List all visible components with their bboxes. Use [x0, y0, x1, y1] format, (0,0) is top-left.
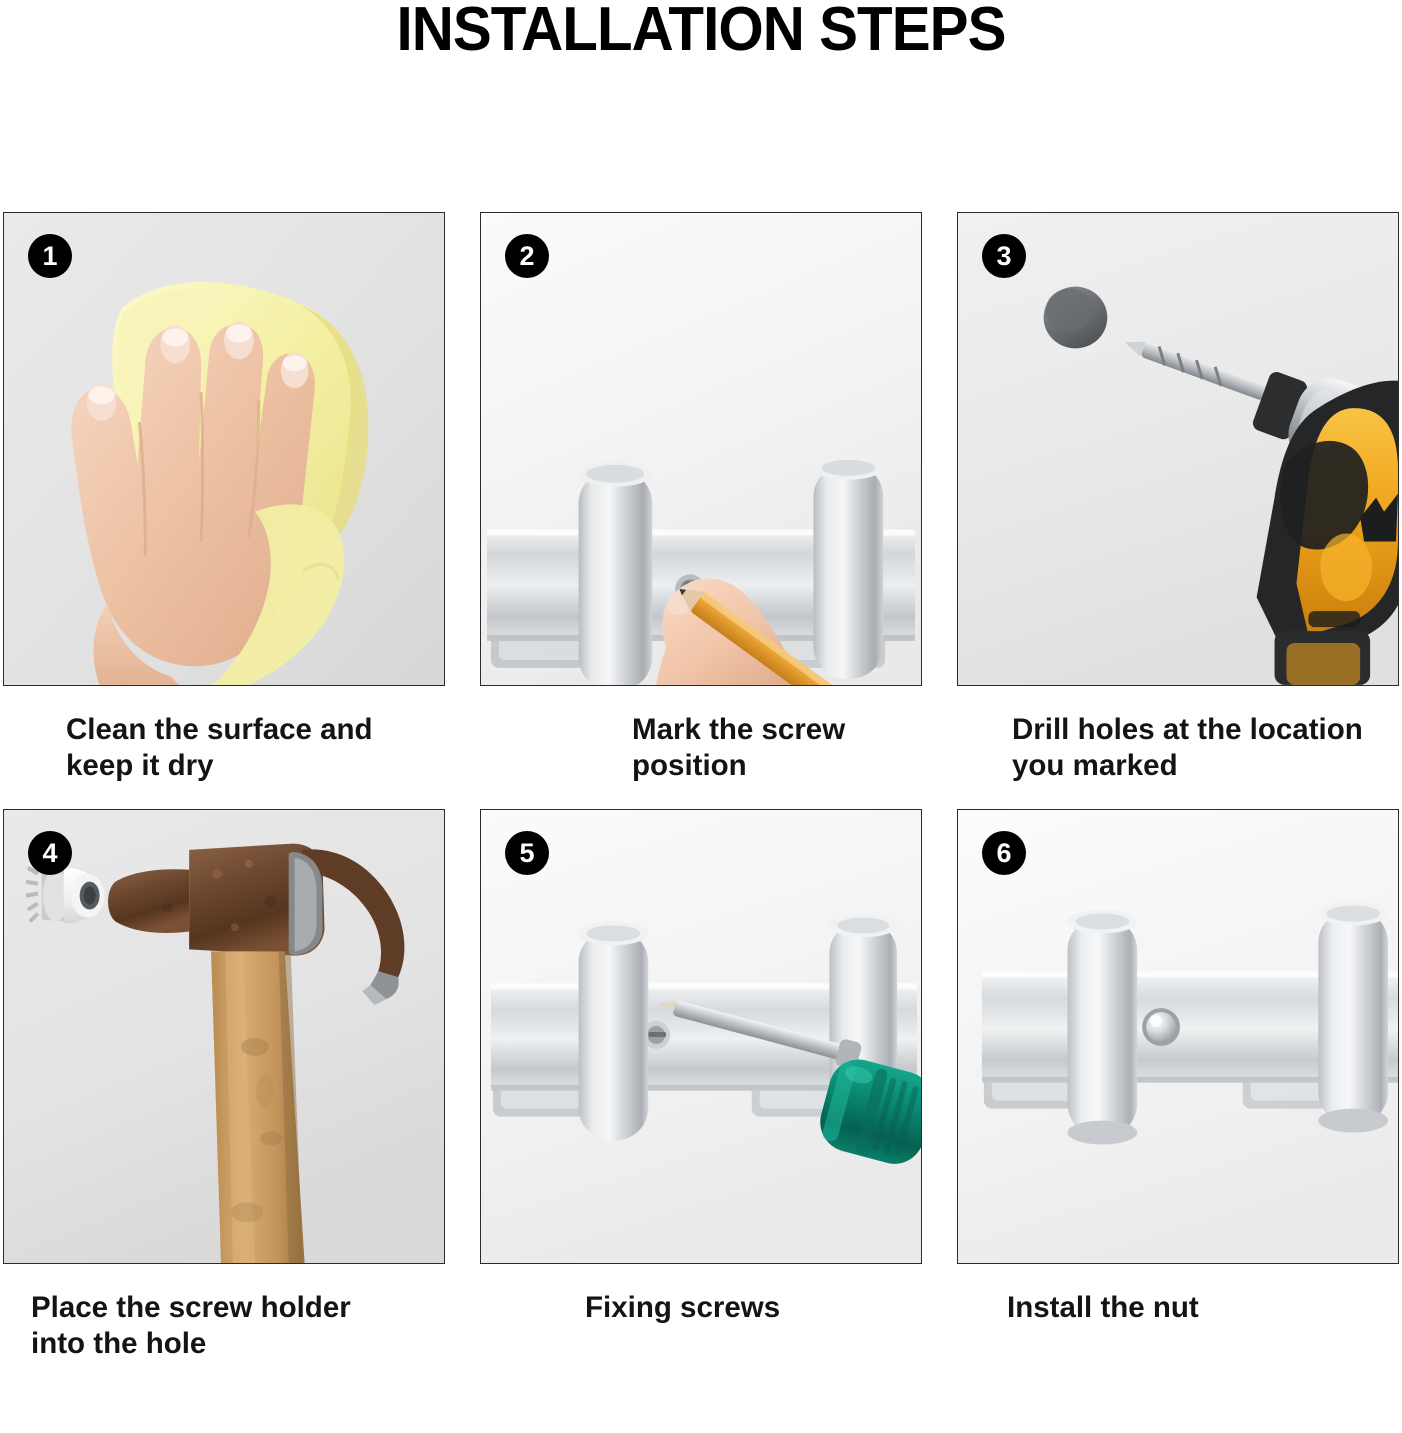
step-image-3 — [957, 212, 1399, 686]
step-card-2: Mark the screw position 2 — [480, 212, 922, 784]
cleaning-cloth-illustration — [4, 213, 444, 685]
page-title: INSTALLATION STEPS — [42, 0, 1360, 64]
step-card-1: Clean the surface and keep it dry 1 — [3, 212, 445, 784]
steps-grid: Clean the surface and keep it dry 1 — [3, 212, 1399, 1362]
step-card-6: Install the nut 6 — [957, 809, 1399, 1362]
finished-rail-illustration — [958, 810, 1398, 1263]
step-image-1 — [3, 212, 445, 686]
step-caption-3: Drill holes at the location you marked — [957, 686, 1399, 784]
step-image-6 — [957, 809, 1399, 1264]
step-badge-5: 5 — [505, 831, 549, 875]
step-image-2 — [480, 212, 922, 686]
pencil-marking-illustration — [481, 213, 921, 685]
step-badge-6: 6 — [982, 831, 1026, 875]
step-badge-4: 4 — [28, 831, 72, 875]
step-image-5 — [480, 809, 922, 1264]
screwdriver-illustration — [481, 810, 921, 1263]
step-caption-1: Clean the surface and keep it dry — [3, 686, 445, 784]
step-caption-6: Install the nut — [957, 1264, 1399, 1326]
step-badge-3: 3 — [982, 234, 1026, 278]
step-card-5: Fixing screws 5 — [480, 809, 922, 1362]
step-badge-1: 1 — [28, 234, 72, 278]
step-card-4: Place the screw holder into the hole 4 — [3, 809, 445, 1362]
step-caption-4: Place the screw holder into the hole — [3, 1264, 445, 1362]
hammer-anchor-illustration — [4, 810, 444, 1263]
drill-illustration — [958, 213, 1398, 685]
step-caption-2: Mark the screw position — [480, 686, 922, 784]
step-image-4 — [3, 809, 445, 1264]
step-card-3: Drill holes at the location you marked 3 — [957, 212, 1399, 784]
step-badge-2: 2 — [505, 234, 549, 278]
installation-steps-page: INSTALLATION STEPS — [0, 0, 1402, 1433]
step-caption-5: Fixing screws — [480, 1264, 922, 1326]
